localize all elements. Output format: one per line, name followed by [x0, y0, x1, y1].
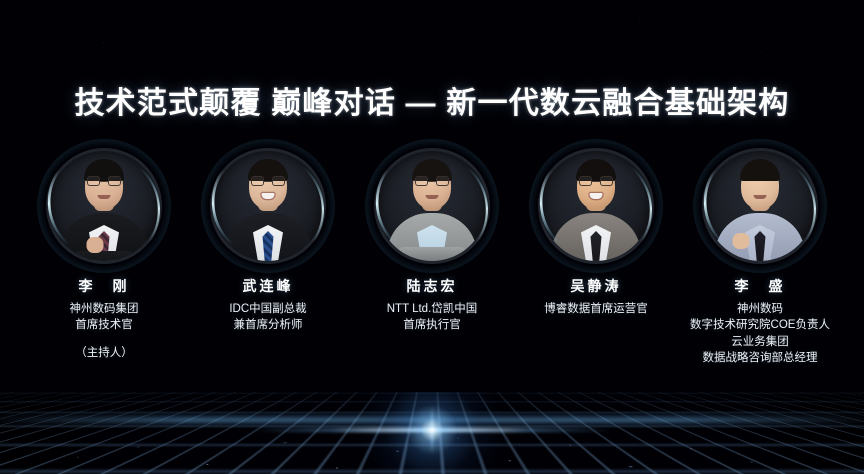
- digital-horizon-floor: [0, 392, 864, 474]
- portrait-medallion-1: [46, 148, 162, 264]
- portrait-disc-2: [213, 151, 323, 261]
- speaker-name-2: 武连峰: [229, 277, 306, 297]
- speaker-affiliation-5-3: 数据战略咨询部总经理: [690, 350, 830, 366]
- speaker-affiliation-5-2: 云业务集团: [690, 334, 830, 350]
- speaker-card-5[interactable]: 李 盛 神州数码 数字技术研究院COE负责人 云业务集团 数据战略咨询部总经理: [678, 148, 842, 398]
- speaker-affiliation-2-1: 兼首席分析师: [229, 317, 306, 333]
- portrait-person-3: [377, 151, 487, 261]
- speaker-affiliation-5-0: 神州数码: [690, 301, 830, 317]
- portrait-medallion-4: [538, 148, 654, 264]
- portrait-disc-1: [49, 151, 159, 261]
- speaker-caption-5: 李 盛 神州数码 数字技术研究院COE负责人 云业务集团 数据战略咨询部总经理: [690, 277, 830, 366]
- speaker-card-2[interactable]: 武连峰 IDC中国副总裁 兼首席分析师: [186, 148, 350, 398]
- speaker-row: 李 刚 神州数码集团 首席技术官 （主持人）: [0, 148, 864, 398]
- portrait-person-2: [213, 151, 323, 261]
- portrait-medallion-5: [702, 148, 818, 264]
- portrait-medallion-2: [210, 148, 326, 264]
- horizon-haze-band: [0, 412, 864, 427]
- speaker-caption-2: 武连峰 IDC中国副总裁 兼首席分析师: [229, 277, 306, 334]
- portrait-medallion-3: [374, 148, 490, 264]
- speaker-affiliation-3-1: 首席执行官: [387, 317, 478, 333]
- speaker-affiliation-2-0: IDC中国副总裁: [229, 301, 306, 317]
- page-title: 技术范式颠覆 巅峰对话 — 新一代数云融合基础架构: [0, 78, 864, 122]
- speaker-caption-3: 陆志宏 NTT Ltd.岱凯中国 首席执行官: [387, 277, 478, 334]
- speaker-caption-1: 李 刚 神州数码集团 首席技术官 （主持人）: [70, 277, 139, 361]
- portrait-disc-3: [377, 151, 487, 261]
- speaker-affiliation-4-0: 博睿数据首席运营官: [544, 301, 648, 317]
- speaker-caption-4: 吴静涛 博睿数据首席运营官: [544, 277, 648, 317]
- speaker-affiliation-3-0: NTT Ltd.岱凯中国: [387, 301, 478, 317]
- portrait-disc-4: [541, 151, 651, 261]
- stage-background: 技术范式颠覆 巅峰对话 — 新一代数云融合基础架构: [0, 0, 864, 474]
- speaker-affiliation-5-1: 数字技术研究院COE负责人: [690, 317, 830, 333]
- horizon-light-burst: [357, 392, 507, 474]
- speaker-card-1[interactable]: 李 刚 神州数码集团 首席技术官 （主持人）: [22, 148, 186, 398]
- speaker-card-4[interactable]: 吴静涛 博睿数据首席运营官: [514, 148, 678, 398]
- speaker-affiliation-1-1: 首席技术官: [70, 317, 139, 333]
- floor-edge-vignette: [0, 392, 864, 474]
- speaker-role-note-1: （主持人）: [70, 345, 139, 361]
- speaker-name-5: 李 盛: [690, 277, 830, 297]
- portrait-person-1: [49, 151, 159, 261]
- portrait-disc-5: [705, 151, 815, 261]
- portrait-person-4: [541, 151, 651, 261]
- speaker-card-3[interactable]: 陆志宏 NTT Ltd.岱凯中国 首席执行官: [350, 148, 514, 398]
- speaker-affiliation-1-0: 神州数码集团: [70, 301, 139, 317]
- portrait-person-5: [705, 151, 815, 261]
- speaker-name-4: 吴静涛: [544, 277, 648, 297]
- horizon-light-streak: [252, 428, 612, 433]
- speaker-name-3: 陆志宏: [387, 277, 478, 297]
- speaker-name-1: 李 刚: [70, 277, 139, 297]
- title-block: 技术范式颠覆 巅峰对话 — 新一代数云融合基础架构: [0, 78, 864, 122]
